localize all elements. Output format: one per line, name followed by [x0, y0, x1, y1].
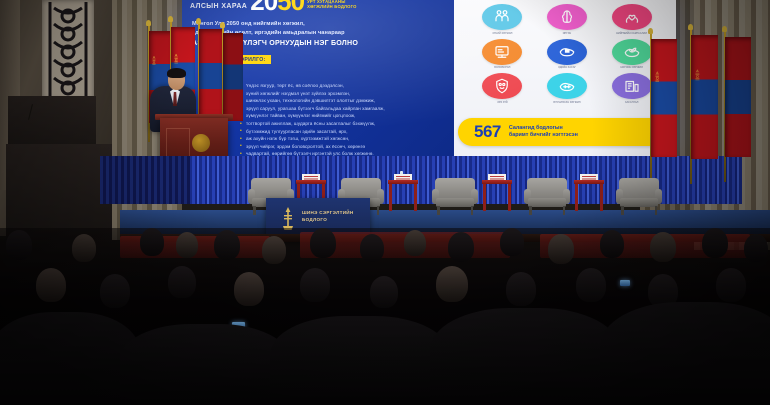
audience-head: [140, 228, 164, 256]
audience-head: [168, 266, 196, 298]
icon-bubble: [547, 4, 587, 30]
stage-chair-3: [432, 178, 478, 214]
blue-pleated-curtain-left: [100, 156, 190, 204]
audience-head: [548, 234, 574, 264]
audience-head: [500, 228, 524, 256]
slide-bullet-item: хүмүүнлэг тайван, хүмүүнлэг нийгмийг цог…: [240, 112, 486, 120]
audience-head: [744, 234, 768, 262]
brain-icon: [558, 8, 576, 26]
side-table-2: [388, 180, 418, 212]
banner-line2: баримт бичгийг нэгтгэсэн: [509, 132, 578, 138]
logo-year: 2050: [250, 0, 304, 12]
icon-caption: БҮСЧИЛСЭН ХӨГЖИЛ: [544, 101, 590, 104]
audience-head: [716, 268, 746, 302]
audience-head: [176, 232, 198, 258]
audience-head: [650, 232, 676, 262]
icon-caption: ЗАСАГЛАЛ: [609, 101, 655, 104]
logo-year-suffix: 50: [277, 0, 304, 16]
slide-lead-line1: Монгол Улс 2050 онд нийгмийн хөгжил,: [192, 21, 305, 27]
audience-shoulders: [0, 312, 140, 405]
icon-bubble: [482, 4, 522, 30]
audience-shoulders: [120, 324, 290, 405]
education-screen-icon: [493, 43, 511, 61]
mongolian-ornament-icon: [44, 2, 92, 98]
icon-caption: ЭРХ ЗҮЙ: [479, 101, 525, 104]
icon-bubble: [482, 73, 522, 99]
logo-vision-word: АЛСЫН ХАРАА: [190, 3, 247, 10]
audience-head: [262, 236, 286, 264]
soyombo-icon: [695, 50, 700, 102]
audience-head: [600, 230, 624, 258]
slide-bullet-item: аж ахуйн нэгж бүр тэгш, хүртээмжтэй хөгж…: [240, 135, 486, 143]
heart-in-hands-icon: [623, 8, 641, 26]
audience-head: [100, 274, 130, 308]
audience-area: [0, 228, 770, 405]
logo-year-prefix: 20: [250, 0, 277, 16]
icon-caption: ЭДИЙН ЗАСАГ: [544, 66, 590, 69]
icon-bubble: [612, 73, 652, 99]
slide-bullet-item: хүний хөгжлийг нэгдмэл үнэт зүйлээ эрхэм…: [240, 90, 486, 98]
icon-bubble: [547, 39, 587, 65]
soyombo-icon: [655, 53, 660, 103]
audience-head: [404, 230, 426, 256]
audience-head: [36, 268, 66, 302]
vision-2050-logo: АЛСЫН ХАРАА 2050 МОНГОЛ УЛСЫН УРТ ХУГАЦА…: [190, 0, 357, 12]
audience-head: [72, 234, 96, 262]
side-table-3: [482, 180, 512, 212]
soyombo-icon: [152, 42, 156, 81]
audience-head: [448, 232, 474, 262]
icon-caption: ХҮНИЙ ХӨГЖИЛ: [479, 32, 525, 35]
audience-head: [310, 228, 336, 258]
icon-bubble: [612, 39, 652, 65]
icon-bubble: [482, 39, 522, 65]
audience-head: [234, 272, 264, 306]
stage-sign-text: ШИНЭ СЭРГЭЛТИЙН БОДЛОГО: [302, 210, 366, 223]
governance-chart-icon: [623, 77, 641, 95]
icon-grid-cell: ХҮНИЙ ХӨГЖИЛ: [474, 4, 531, 35]
audience-head: [436, 266, 468, 302]
icon-grid-cell: ЭДИЙН ЗАСАГ: [539, 39, 596, 70]
slide-bullet-item: шинжлэх ухаан, технологийн дэвшилтэт оло…: [240, 97, 486, 105]
stage-chair-5: [616, 178, 662, 214]
slide-bullet-item: тогтвортой ажиллаж, шударга ёсны засагла…: [240, 120, 486, 128]
map-city-icon: [558, 43, 576, 61]
leaf-map-icon: [623, 43, 641, 61]
icon-grid-cell: БҮСЧИЛСЭН ХӨГЖИЛ: [539, 73, 596, 104]
podium-emblem-icon: [192, 134, 210, 152]
icon-caption: НОГООН ХӨГЖИЛ: [609, 66, 655, 69]
icon-caption: БОЛОВСРОЛ: [479, 66, 525, 69]
audience-head: [300, 268, 330, 302]
speaker-hair: [167, 68, 186, 78]
audience-head: [506, 272, 536, 306]
shield-face-icon: [493, 77, 511, 95]
audience-head: [6, 230, 32, 260]
audience-shoulders: [430, 308, 620, 405]
banner-line1: Салангид бодлогын: [509, 125, 563, 131]
icon-grid-cell: ЭРХ ЗҮЙ: [474, 73, 531, 104]
audience-head: [576, 268, 606, 302]
icon-grid-cell: ИРГЭН: [539, 4, 596, 35]
slide-bullet-item: Үндэс язгуур, төрт ёс, өв соёлоо дээдэлс…: [240, 82, 486, 90]
icon-grid: ХҮНИЙ ХӨГЖИЛИРГЭННИЙГМИЙН ХАМГААЛАЛБОЛОВ…: [474, 4, 660, 104]
banner-number: 567: [474, 122, 501, 142]
stage-sign-line1: ШИНЭ СЭРГЭЛТИЙН: [302, 210, 354, 215]
summary-banner: 567 Салангид бодлогын баримт бичгийг нэг…: [458, 118, 670, 146]
icon-bubble: [612, 4, 652, 30]
audience-head: [702, 228, 728, 258]
icon-caption: ИРГЭН: [544, 32, 590, 35]
slide-bullet-item: эрүүл чийрэг, эрдэм боловсролтой, ах ёсо…: [240, 143, 486, 151]
side-table-4: [574, 180, 604, 212]
conference-photo: АЛСЫН ХАРАА 2050 МОНГОЛ УЛСЫН УРТ ХУГАЦА…: [0, 0, 770, 405]
phone-screen: [620, 280, 630, 286]
audience-head: [360, 234, 384, 262]
icon-grid-cell: БОЛОВСРОЛ: [474, 39, 531, 70]
audience-shoulders: [270, 316, 450, 405]
audience-head: [214, 230, 240, 260]
slide-bullet-item: эрүүл саруул, урагшаа бүтээгч байгальдаа…: [240, 105, 486, 113]
banner-text: Салангид бодлогын баримт бичгийг нэгтгэс…: [509, 125, 578, 140]
logo-subtitle: МОНГОЛ УЛСЫН УРТ ХУГАЦААНЫ ХӨГЖЛИЙН БОДЛ…: [307, 0, 357, 9]
icon-bubble: [547, 73, 587, 99]
stage-chair-4: [524, 178, 570, 214]
map-transport-icon: [558, 77, 576, 95]
slide-bullet-item: бүтээмжид тулгуурласан эдийн засагтай, ө…: [240, 128, 486, 136]
family-icon: [493, 8, 511, 26]
audience-shoulders: [600, 302, 770, 405]
audience-head: [370, 276, 398, 308]
stage-sign-line2: БОДЛОГО: [302, 217, 327, 222]
projection-screen: АЛСЫН ХАРАА 2050 МОНГОЛ УЛСЫН УРТ ХУГАЦА…: [182, 0, 676, 158]
